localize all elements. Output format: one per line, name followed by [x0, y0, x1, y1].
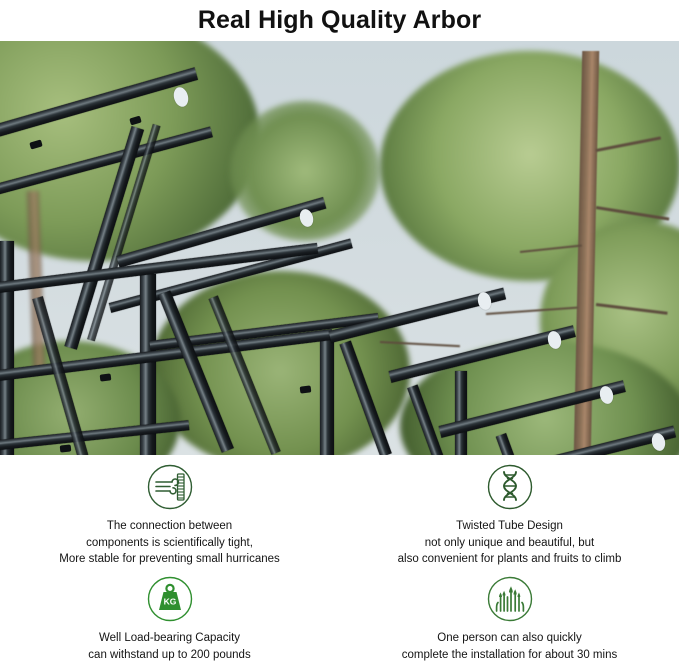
feature-line: components is scientifically tight, [0, 535, 339, 552]
weight-kg-icon: KG [146, 575, 194, 623]
frame-clip [60, 444, 72, 452]
feature-line: The connection between [0, 518, 339, 535]
frame-clip [100, 373, 112, 381]
feature-line: Twisted Tube Design [340, 518, 679, 535]
feature-line: One person can also quickly [340, 630, 679, 647]
feature-line: can withstand up to 200 pounds [0, 647, 339, 663]
frame-clip [300, 385, 312, 393]
feature-item-load-bearing: KG Well Load-bearing Capacity can withst… [0, 575, 339, 663]
feature-grid: The connection between components is sci… [0, 455, 679, 658]
frame-post [455, 371, 467, 455]
product-feature-page: Real High Quality Arbor [0, 0, 679, 658]
feature-line: Well Load-bearing Capacity [0, 630, 339, 647]
wind-bolt-icon [146, 463, 194, 511]
feature-line: More stable for preventing small hurrica… [0, 551, 339, 568]
hands-plants-icon [486, 575, 534, 623]
feature-line: also convenient for plants and fruits to… [340, 551, 679, 568]
feature-caption: Twisted Tube Design not only unique and … [340, 518, 679, 568]
feature-line: not only unique and beautiful, but [340, 535, 679, 552]
feature-item-connection: The connection between components is sci… [0, 463, 339, 568]
feature-line: complete the installation for about 30 m… [340, 647, 679, 663]
hero-photo [0, 41, 679, 455]
page-title: Real High Quality Arbor [0, 0, 679, 41]
dna-helix-icon [486, 463, 534, 511]
feature-caption: One person can also quickly complete the… [340, 630, 679, 663]
feature-item-quick-install: One person can also quickly complete the… [340, 575, 679, 663]
feature-item-twisted-tube: Twisted Tube Design not only unique and … [340, 463, 679, 568]
feature-caption: Well Load-bearing Capacity can withstand… [0, 630, 339, 663]
feature-caption: The connection between components is sci… [0, 518, 339, 568]
weight-icon-label: KG [163, 597, 176, 607]
frame-post [0, 241, 14, 455]
frame-post [320, 331, 334, 455]
